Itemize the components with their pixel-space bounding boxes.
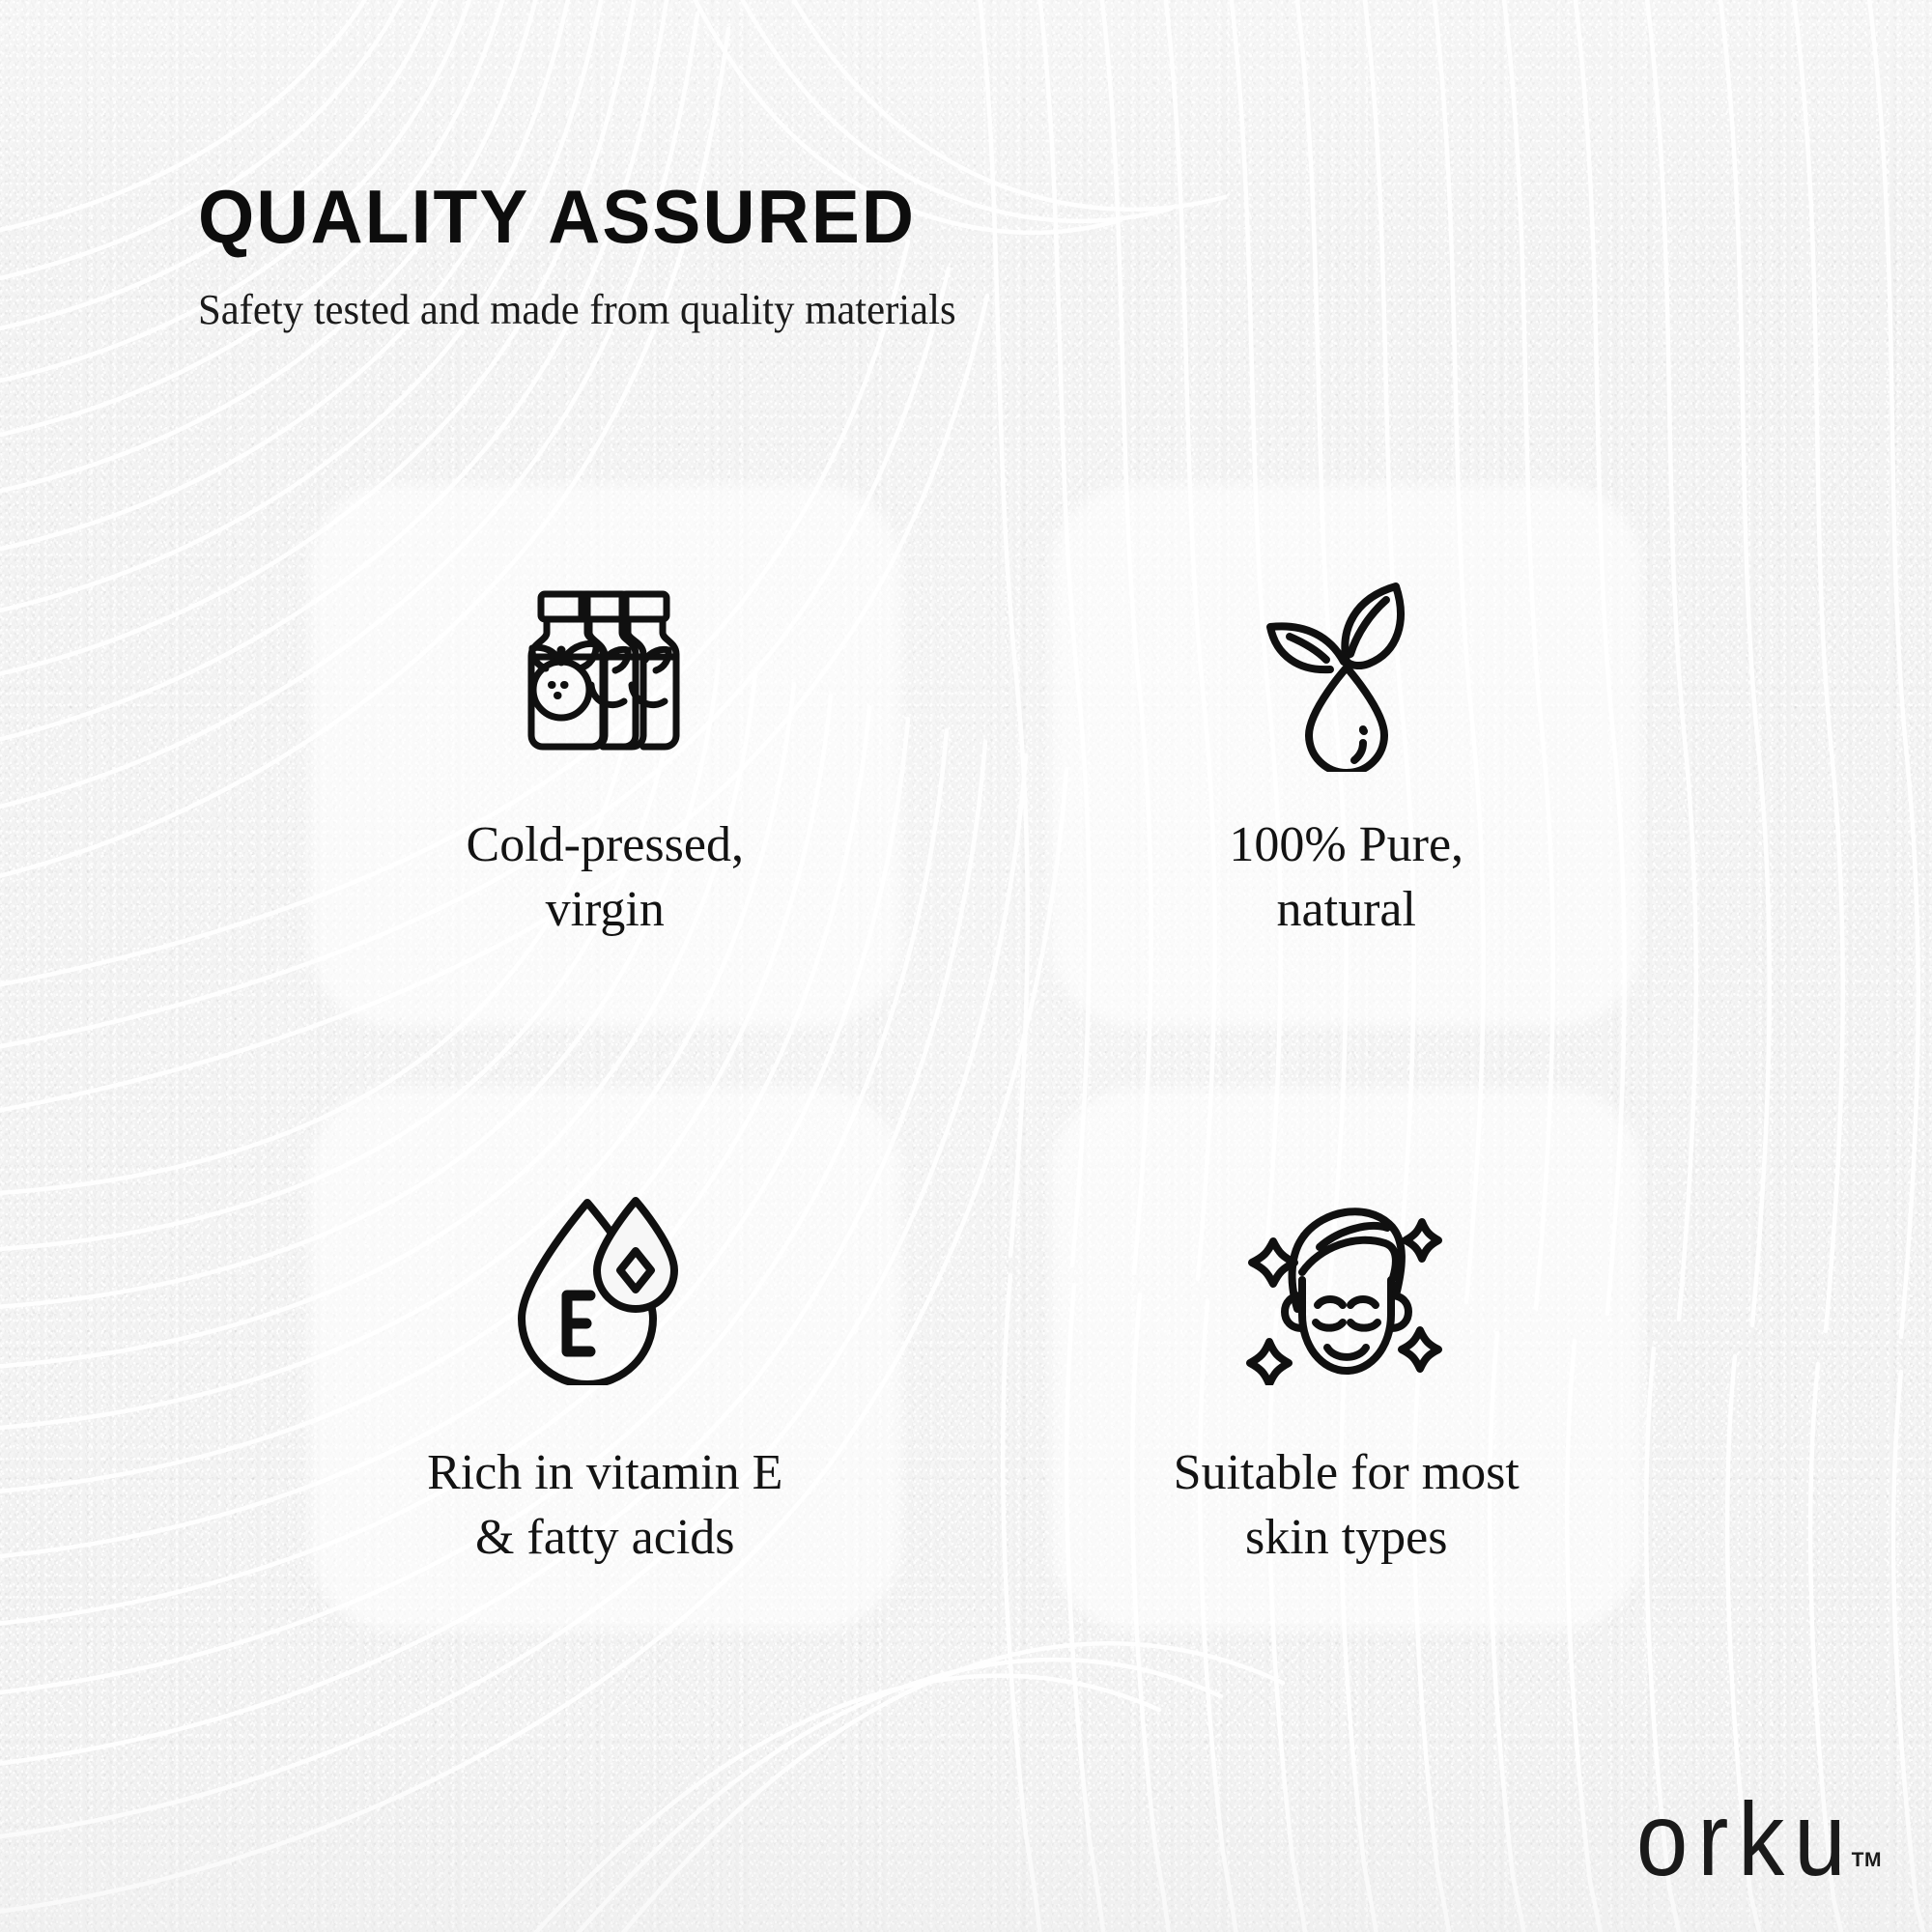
feature-card-label: 100% Pure, natural: [1229, 813, 1463, 942]
feature-card-skin-types[interactable]: Suitable for most skin types: [1032, 1082, 1662, 1652]
leaf-droplet-icon: [1242, 571, 1450, 779]
feature-card-label: Cold-pressed, virgin: [467, 813, 744, 942]
jars-icon: [501, 571, 709, 779]
header: QUALITY ASSURED Safety tested and made f…: [198, 179, 1454, 331]
vitamin-e-droplet-icon: [501, 1175, 709, 1397]
brand-logo: orku TM: [1636, 1805, 1882, 1886]
feature-card-label: Rich in vitamin E & fatty acids: [427, 1441, 782, 1570]
trademark-symbol: TM: [1852, 1849, 1882, 1872]
infographic-canvas: QUALITY ASSURED Safety tested and made f…: [0, 0, 1932, 1932]
page-subtitle: Safety tested and made from quality mate…: [198, 289, 1416, 331]
face-skincare-icon: [1242, 1175, 1450, 1397]
feature-card-vitamin-e[interactable]: Rich in vitamin E & fatty acids: [290, 1082, 921, 1652]
feature-card-cold-pressed[interactable]: Cold-pressed, virgin: [290, 478, 921, 1048]
brand-logo-text: orku: [1636, 1797, 1856, 1886]
page-title: QUALITY ASSURED: [198, 179, 1404, 254]
feature-card-pure-natural[interactable]: 100% Pure, natural: [1032, 478, 1662, 1048]
feature-card-grid: Cold-pressed, virgin: [290, 478, 1662, 1652]
feature-card-label: Suitable for most skin types: [1174, 1441, 1520, 1570]
